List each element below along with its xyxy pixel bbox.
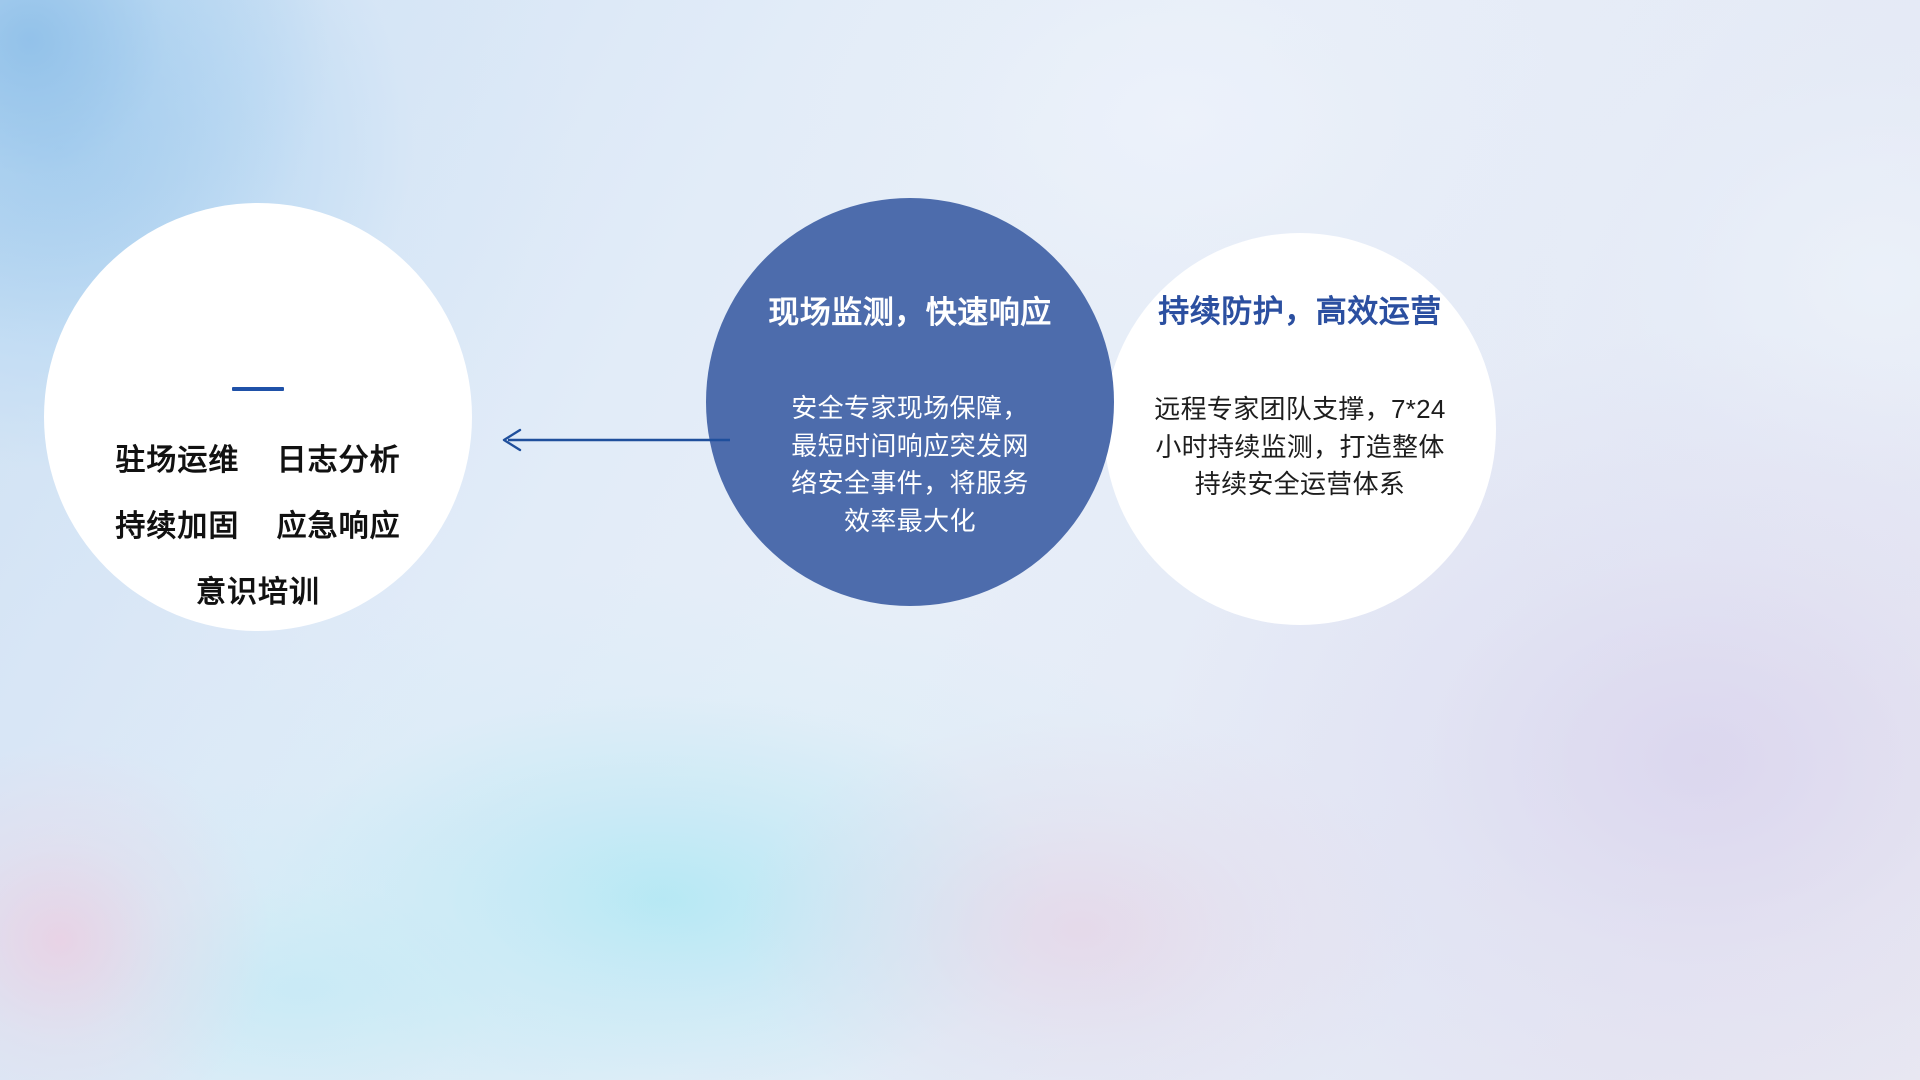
capabilities-content: 驻场运维 日志分析 持续加固 应急响应 意识培训 <box>44 387 472 608</box>
continuous-protection-content: 持续防护，高效运营 远程专家团队支撑，7*24 小时持续监测，打造整体 持续安全… <box>1104 295 1496 504</box>
capabilities-line-2: 持续加固 应急响应 <box>44 512 472 542</box>
capabilities-circle[interactable]: 驻场运维 日志分析 持续加固 应急响应 意识培训 <box>44 203 472 631</box>
onsite-monitoring-title: 现场监测，快速响应 <box>732 296 1088 330</box>
onsite-monitoring-circle[interactable]: 现场监测，快速响应 安全专家现场保障， 最短时间响应突发网 络安全事件，将服务 … <box>706 198 1114 606</box>
capabilities-line-1: 驻场运维 日志分析 <box>44 446 472 476</box>
onsite-monitoring-body-line-3: 络安全事件，将服务 <box>732 465 1088 503</box>
flow-arrow-left-icon <box>480 414 730 466</box>
continuous-protection-body-line-2: 小时持续监测，打造整体 <box>1140 429 1460 467</box>
slide-canvas: 驻场运维 日志分析 持续加固 应急响应 意识培训 持续防护，高效运营 远程专家团… <box>0 0 1920 1080</box>
onsite-monitoring-body-line-2: 最短时间响应突发网 <box>732 428 1088 466</box>
onsite-monitoring-body-line-1: 安全专家现场保障， <box>732 390 1088 428</box>
divider-line <box>232 387 284 391</box>
continuous-protection-body-line-3: 持续安全运营体系 <box>1140 466 1460 504</box>
continuous-protection-circle[interactable]: 持续防护，高效运营 远程专家团队支撑，7*24 小时持续监测，打造整体 持续安全… <box>1104 233 1496 625</box>
continuous-protection-title: 持续防护，高效运营 <box>1140 295 1460 329</box>
onsite-monitoring-body: 安全专家现场保障， 最短时间响应突发网 络安全事件，将服务 效率最大化 <box>732 390 1088 541</box>
onsite-monitoring-body-line-4: 效率最大化 <box>732 503 1088 541</box>
continuous-protection-body-line-1: 远程专家团队支撑，7*24 <box>1140 391 1460 429</box>
capabilities-line-3: 意识培训 <box>44 578 472 608</box>
continuous-protection-body: 远程专家团队支撑，7*24 小时持续监测，打造整体 持续安全运营体系 <box>1140 391 1460 504</box>
onsite-monitoring-content: 现场监测，快速响应 安全专家现场保障， 最短时间响应突发网 络安全事件，将服务 … <box>706 296 1114 541</box>
